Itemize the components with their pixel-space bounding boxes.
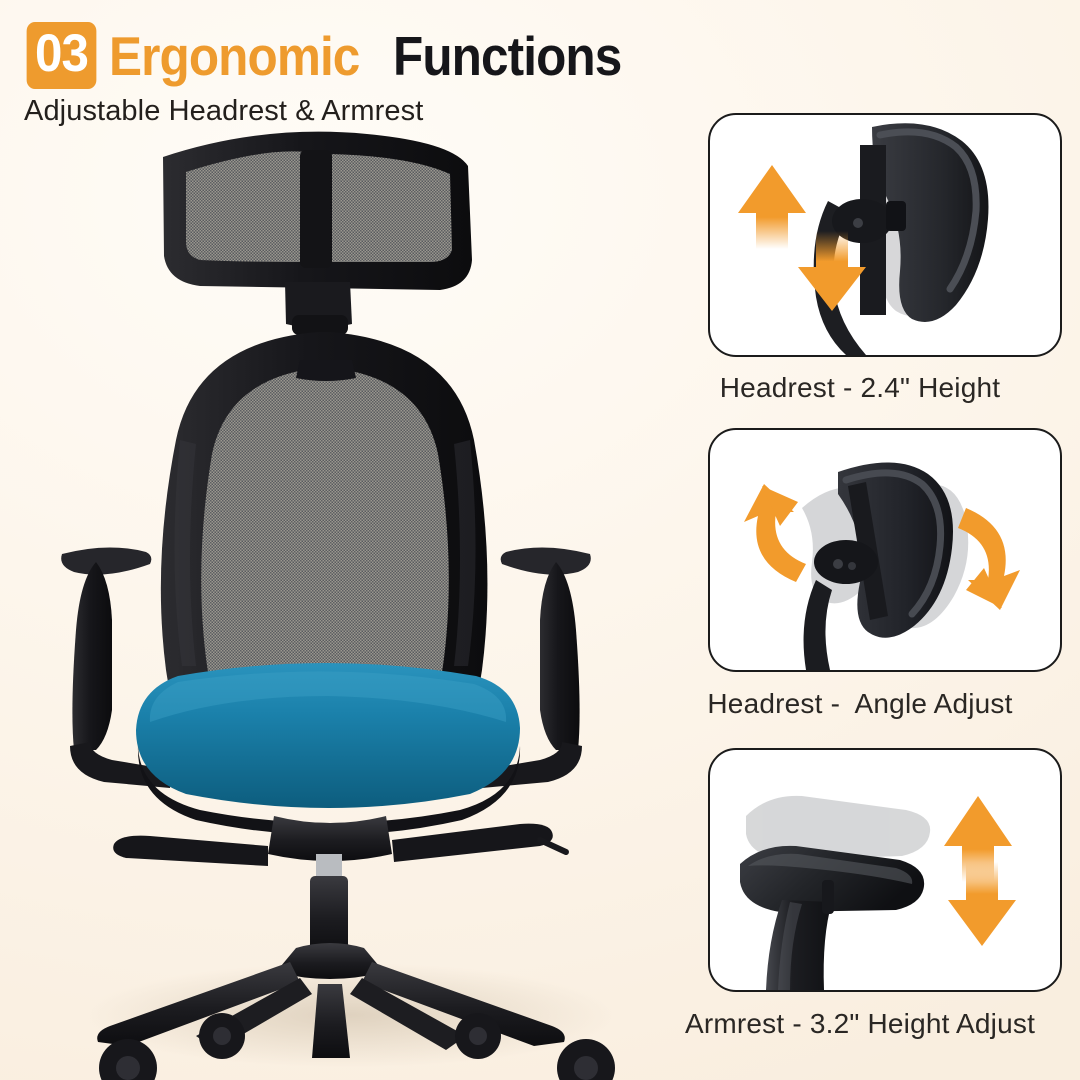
- arrow-down-icon: [798, 231, 866, 311]
- feature-caption-armrest-height: Armrest - 3.2" Height Adjust: [640, 1008, 1080, 1040]
- headrest: [163, 132, 472, 335]
- gas-cylinder: [310, 854, 348, 954]
- title-rest-text: Functions: [393, 24, 621, 88]
- arrow-up-icon: [738, 165, 806, 249]
- armrest-illustration: [740, 846, 924, 990]
- infographic-canvas: 03 Ergonomic Functions Adjustable Headre…: [0, 0, 1080, 1080]
- curved-arrow-right-icon: [958, 508, 1020, 610]
- feature-panel-headrest-angle: [708, 428, 1062, 672]
- feature-caption-headrest-angle: Headrest - Angle Adjust: [640, 688, 1080, 720]
- arrow-down-icon: [948, 862, 1016, 946]
- feature-panel-armrest-height: [708, 748, 1062, 992]
- seat-cushion: [136, 663, 520, 835]
- step-number-badge: 03: [27, 22, 97, 89]
- title-accent-text: Ergonomic: [109, 24, 359, 88]
- feature-panel-headrest-height: [708, 113, 1062, 357]
- product-image-office-chair: [0, 110, 700, 1080]
- page-title: 03 Ergonomic Functions: [24, 22, 647, 89]
- curved-arrow-left-icon: [744, 484, 806, 582]
- feature-caption-headrest-height: Headrest - 2.4" Height: [640, 372, 1080, 404]
